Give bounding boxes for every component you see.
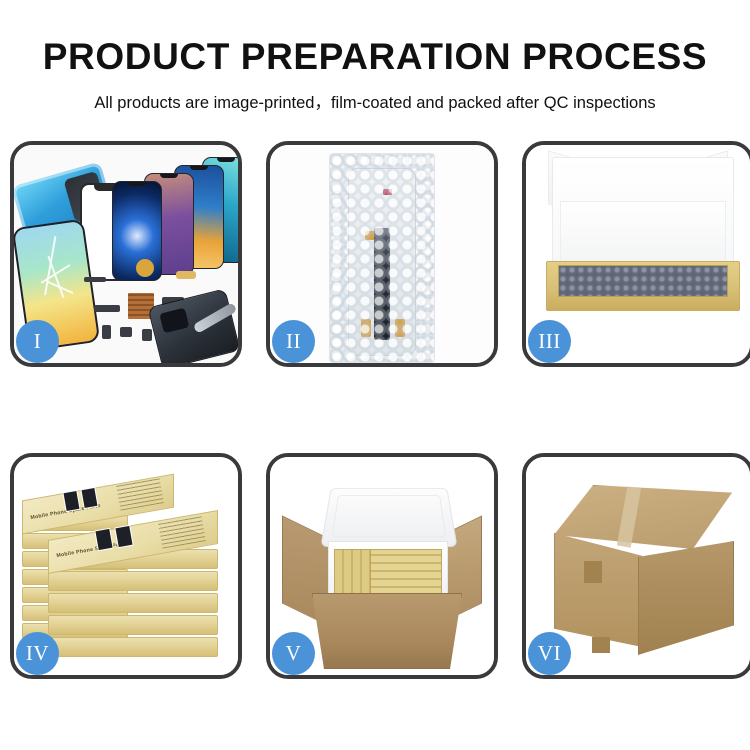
carton-top-face bbox=[554, 485, 732, 549]
bubble-wrap-bag-icon bbox=[329, 153, 435, 363]
step-badge-1: I bbox=[16, 320, 59, 363]
step-panel-6: VI bbox=[522, 453, 750, 679]
packed-items bbox=[558, 265, 728, 297]
step-panel-5: V bbox=[266, 453, 498, 679]
step-panel-2: II bbox=[266, 141, 498, 367]
step-badge-4: IV bbox=[16, 632, 59, 675]
page-title: PRODUCT PREPARATION PROCESS bbox=[0, 0, 750, 78]
infographic-page: PRODUCT PREPARATION PROCESS All products… bbox=[0, 0, 750, 750]
carton-left-face bbox=[554, 533, 642, 647]
step-badge-5: V bbox=[272, 632, 315, 675]
screen-thumb-4 bbox=[114, 525, 133, 548]
step-panel-3: III bbox=[522, 141, 750, 367]
open-carton-icon bbox=[312, 593, 462, 669]
step-badge-6: VI bbox=[528, 632, 571, 675]
screen-thumb-3 bbox=[94, 528, 113, 551]
yellow-boxes-right bbox=[370, 549, 442, 595]
header: PRODUCT PREPARATION PROCESS All products… bbox=[0, 0, 750, 132]
step-badge-2: II bbox=[272, 320, 315, 363]
page-subtitle: All products are image-printed，film-coat… bbox=[0, 78, 750, 113]
step-badge-3: III bbox=[528, 320, 571, 363]
step-panel-4: Mobile Phone Spare Parts Mobile Phone Sp… bbox=[10, 453, 242, 679]
flex-cable-icon bbox=[374, 228, 390, 340]
screen-thumb-2 bbox=[80, 487, 98, 509]
carton-right-face bbox=[638, 541, 734, 655]
carton-tab-lower bbox=[592, 637, 610, 653]
screen-thumb-1 bbox=[62, 490, 80, 512]
process-steps-grid: I II bbox=[10, 141, 740, 679]
carton-tab-upper bbox=[584, 561, 602, 583]
foam-lid-icon bbox=[320, 488, 457, 547]
step-panel-1: I bbox=[10, 141, 242, 367]
